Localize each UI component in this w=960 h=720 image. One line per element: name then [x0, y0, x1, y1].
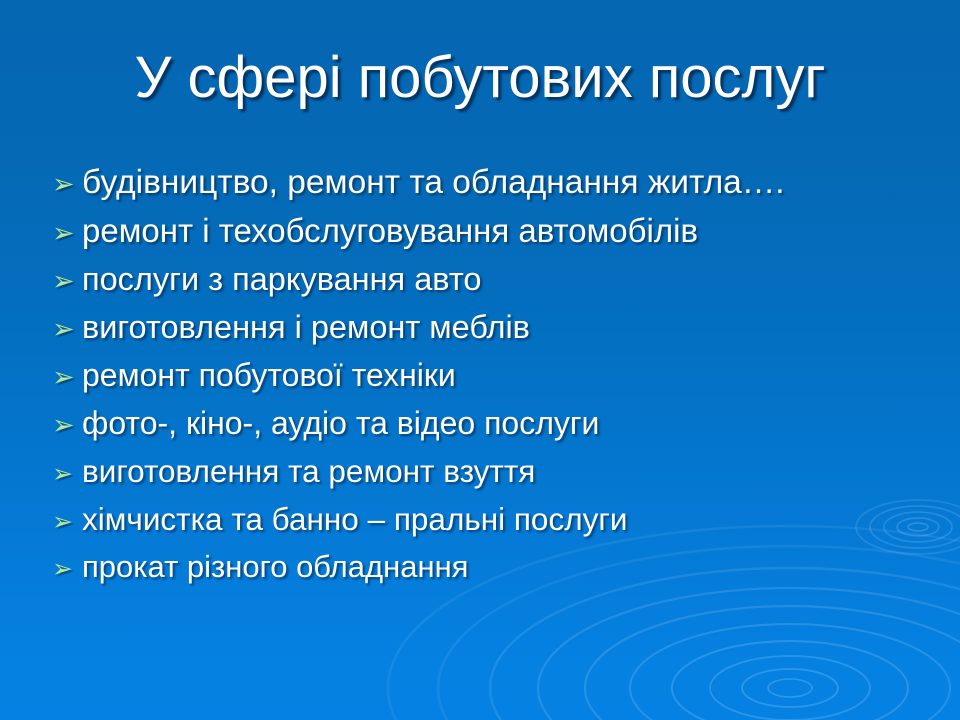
list-item: ➢ прокат різного обладнання: [52, 548, 932, 596]
presentation-slide: У сфері побутових послуг ➢ будівництво, …: [0, 0, 960, 720]
bullet-list: ➢ будівництво, ремонт та обладнання житл…: [52, 164, 932, 596]
arrow-bullet-icon: ➢: [52, 268, 82, 295]
list-item-label: виготовлення і ремонт меблів: [82, 308, 530, 346]
arrow-bullet-icon: ➢: [52, 510, 82, 535]
list-item-label: ремонт і техобслуговування автомобілів: [82, 212, 698, 250]
list-item: ➢ хімчистка та банно – пральні послуги: [52, 500, 932, 548]
list-item: ➢ фото-, кіно-, аудіо та відео послуги: [52, 404, 932, 452]
list-item-label: ремонт побутової техніки: [82, 356, 456, 394]
arrow-bullet-icon: ➢: [52, 412, 82, 439]
arrow-bullet-icon: ➢: [52, 462, 82, 487]
title-container: У сфері побутових послуг: [0, 46, 960, 110]
list-item: ➢ ремонт і техобслуговування автомобілів: [52, 212, 932, 260]
list-item-label: будівництво, ремонт та обладнання житла……: [82, 164, 785, 202]
list-item: ➢ виготовлення та ремонт взуття: [52, 452, 932, 500]
arrow-bullet-icon: ➢: [52, 316, 82, 343]
list-item: ➢ виготовлення і ремонт меблів: [52, 308, 932, 356]
arrow-bullet-icon: ➢: [52, 171, 82, 198]
page-title: У сфері побутових послуг: [135, 46, 826, 110]
list-item: ➢ будівництво, ремонт та обладнання житл…: [52, 164, 932, 212]
list-item-label: виготовлення та ремонт взуття: [82, 452, 535, 490]
list-item-label: послуги з паркування авто: [82, 260, 481, 298]
list-item-label: прокат різного обладнання: [82, 548, 468, 586]
arrow-bullet-icon: ➢: [52, 364, 82, 391]
list-item-label: хімчистка та банно – пральні послуги: [82, 500, 627, 538]
list-item: ➢ ремонт побутової техніки: [52, 356, 932, 404]
arrow-bullet-icon: ➢: [52, 220, 82, 247]
list-item-label: фото-, кіно-, аудіо та відео послуги: [82, 404, 599, 442]
list-item: ➢ послуги з паркування авто: [52, 260, 932, 308]
arrow-bullet-icon: ➢: [52, 557, 82, 582]
